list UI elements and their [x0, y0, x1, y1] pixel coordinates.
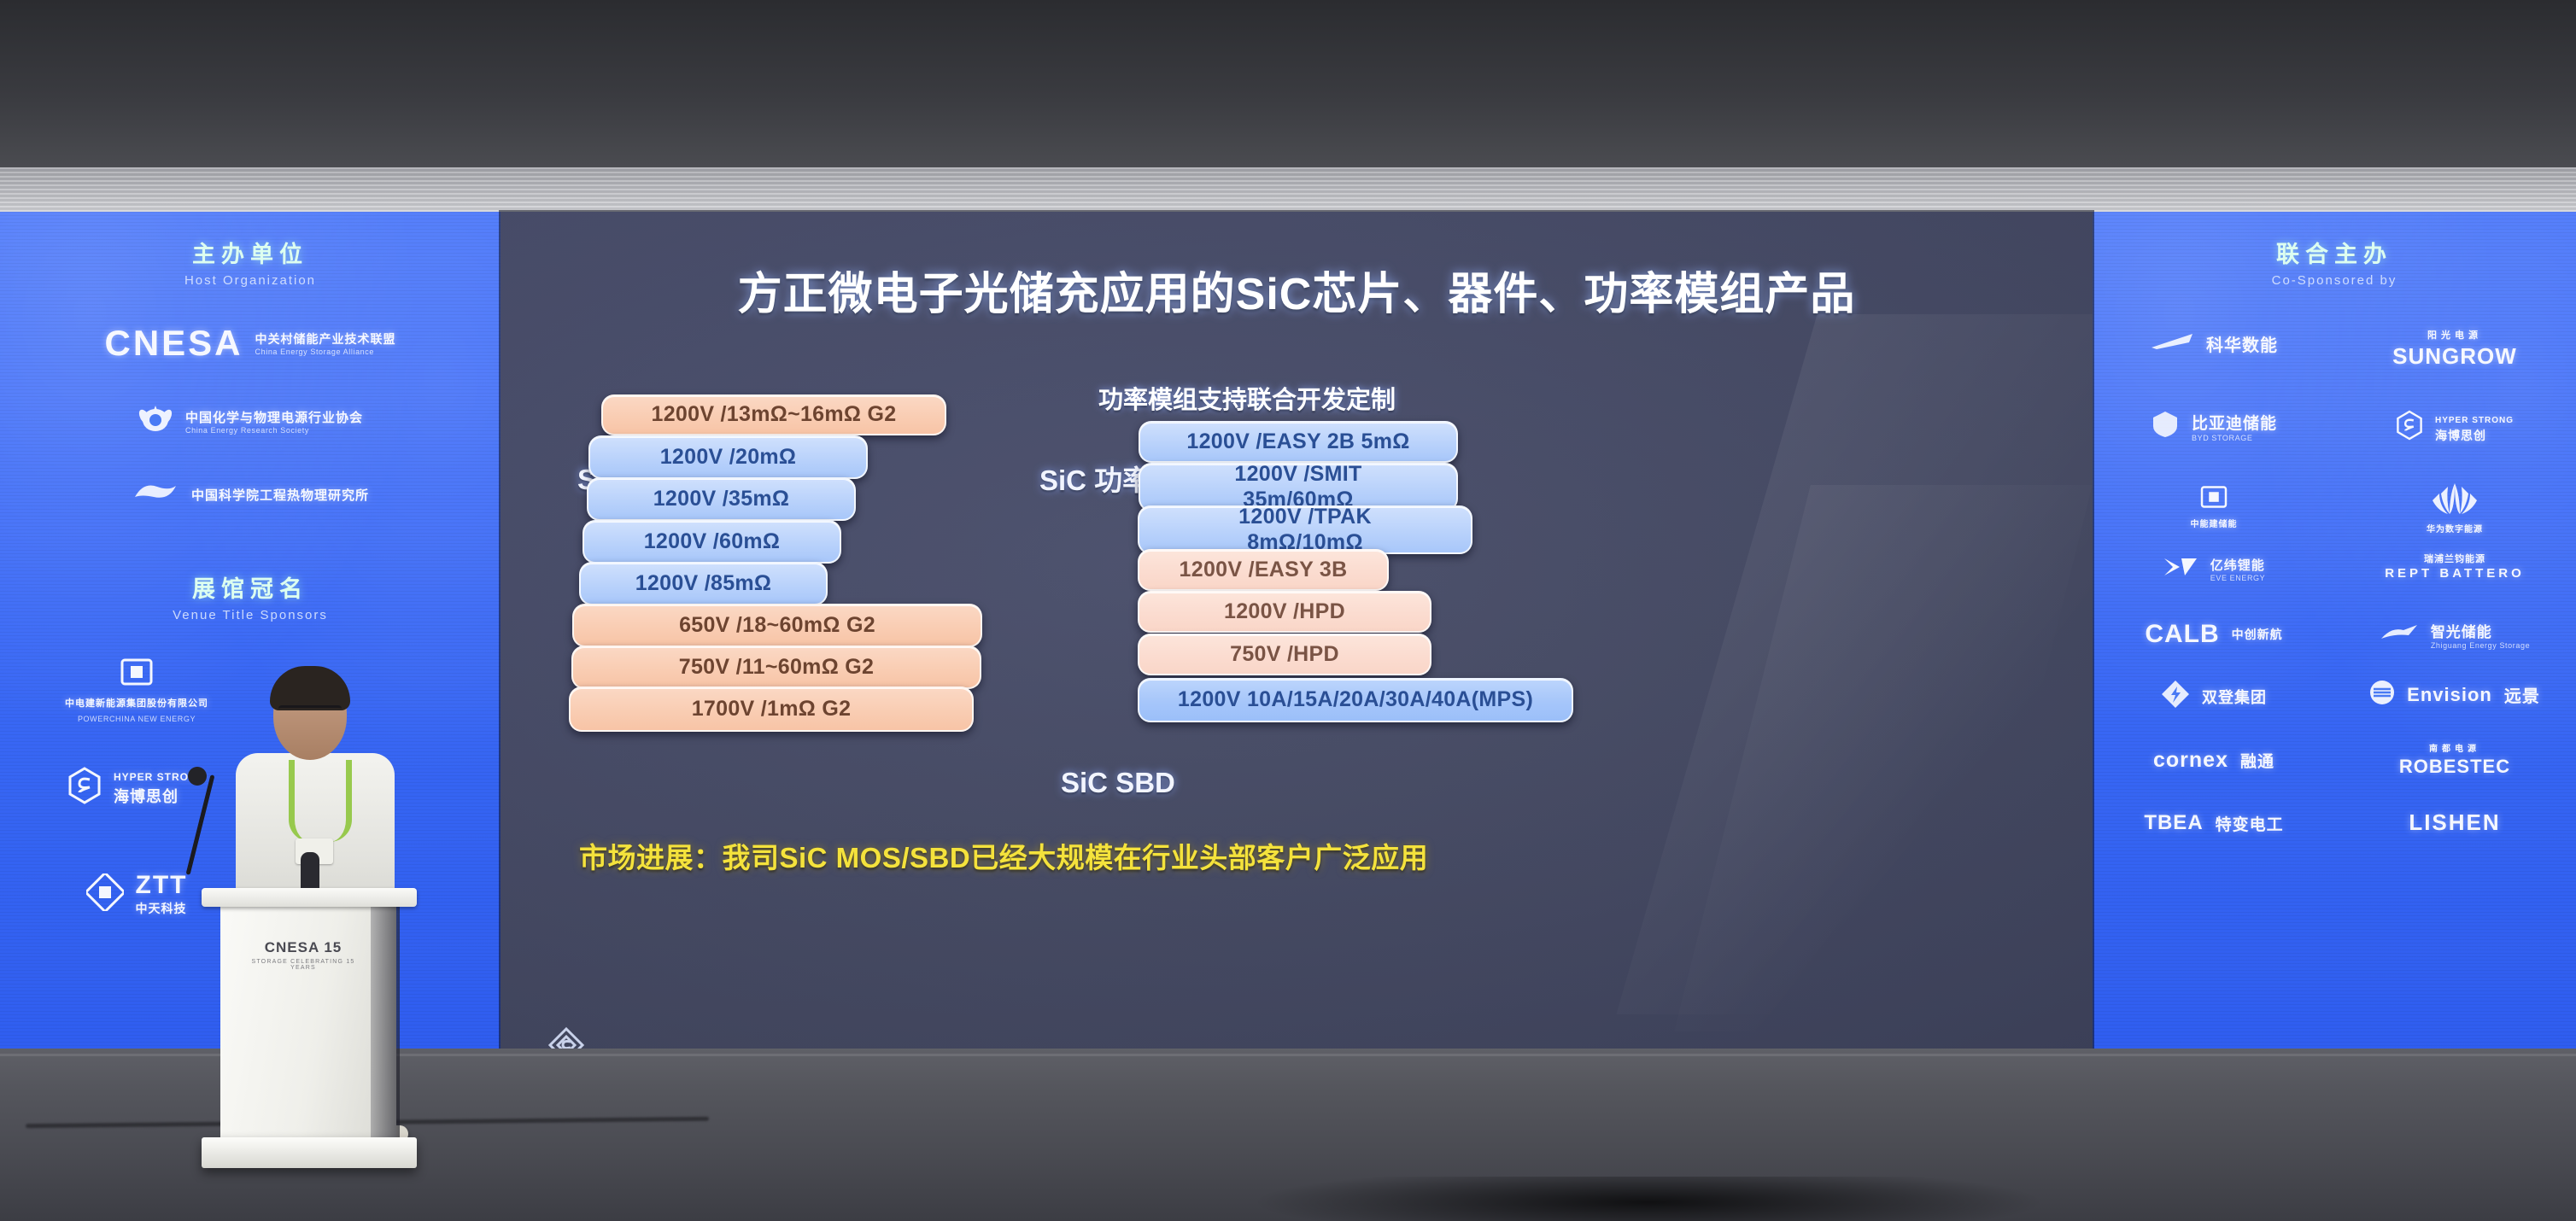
logo-lishen-name: LISHEN: [2409, 809, 2500, 836]
swirl-emblem-icon: [132, 478, 179, 511]
logo-byd-storage: 比亚迪储能 BYD STORAGE: [2096, 410, 2332, 443]
pill-sic-sbd-0: 1200V 10A/15A/20A/30A/40A(MPS): [1138, 678, 1573, 722]
logo-sungrow: 阳光电源 SUNGROW: [2337, 328, 2573, 370]
module-headline: 功率模组支持联合开发定制: [1098, 380, 1396, 416]
podium-logo-main: CNESA 15: [239, 939, 367, 956]
logo-eve-cn: 亿纬锂能: [2210, 558, 2265, 573]
conference-stage-photo: 主办单位 Host Organization CNESA 中关村储能产业技术联盟…: [0, 0, 2576, 1221]
slide-title: 方正微电子光储充应用的SiC芯片、器件、功率模组产品: [501, 258, 2093, 322]
swoosh-icon: [2150, 332, 2194, 355]
logo-eve: 亿纬锂能 EVE ENERGY: [2096, 555, 2332, 583]
logo-sungrow-cn: 阳光电源: [2427, 328, 2482, 342]
logo-cec-storage: 中能建储能: [2096, 485, 2332, 529]
hexagon-s-icon: [67, 767, 102, 809]
square-emblem-icon: [2199, 485, 2228, 513]
logo-powerchina-cn: 中电建新能源集团股份有限公司: [65, 696, 208, 710]
logo-robestec-cn: 南都电源: [2429, 741, 2480, 754]
cosponsor-heading-en: Co-Sponsored by: [2093, 273, 2576, 288]
logo-iet-cas: 中国科学院工程热物理研究所: [0, 478, 501, 511]
pill-sic-module-2: 1200V /TPAK8mΩ/10mΩ: [1138, 505, 1472, 554]
pill-line: 1200V /60mΩ: [644, 529, 781, 555]
logo-calb: CALB 中创新航: [2096, 620, 2332, 649]
podium-top: [202, 888, 417, 907]
pill-sic-mos-0: 1200V /13mΩ~16mΩ G2: [601, 394, 946, 435]
pill-sic-mos-6: 750V /11~60mΩ G2: [571, 646, 981, 689]
logo-lishen: LISHEN: [2337, 809, 2573, 836]
pill-sic-mos-3: 1200V /60mΩ: [583, 520, 841, 564]
logo-cornex-name: cornex: [2153, 748, 2228, 773]
speaker-hair: [270, 666, 350, 710]
pill-line: 650V /18~60mΩ G2: [679, 613, 875, 639]
host-organization-heading: 主办单位 Host Organization: [0, 236, 501, 288]
logo-cornex-cn: 融通: [2240, 749, 2274, 772]
logo-hyper-strong-right-cn: 海博思创: [2435, 427, 2514, 444]
logo-shuangdeng-cn: 双登集团: [2202, 686, 2267, 708]
logo-zhiguang: 智光储能 Zhiguang Energy Storage: [2337, 620, 2573, 650]
logo-robestec-name: ROBESTEC: [2399, 756, 2510, 778]
logo-cnesa-cn: 中关村储能产业技术联盟: [255, 332, 396, 346]
pill-line: 1200V 10A/15A/20A/30A/40A(MPS): [1178, 687, 1533, 713]
podium: CNESA 15 STORAGE CELEBRATING 15 YEARS: [202, 888, 417, 1173]
pill-sic-mos-4: 1200V /85mΩ: [579, 562, 828, 605]
host-heading-en: Host Organization: [0, 273, 501, 288]
logo-byd-cn: 比亚迪储能: [2192, 415, 2277, 433]
logo-cers-en: China Energy Research Society: [185, 426, 363, 435]
pill-sic-mos-1: 1200V /20mΩ: [588, 435, 868, 479]
logo-eve-en: EVE ENERGY: [2210, 574, 2266, 582]
market-progress-note: 市场进展：我司SiC MOS/SBD已经大规模在行业头部客户广泛应用: [579, 835, 1946, 876]
glasses-icon: [278, 705, 342, 721]
logo-cnesa-name: CNESA: [104, 323, 243, 364]
pill-line: 1200V /85mΩ: [635, 571, 772, 597]
pill-sic-mos-5: 650V /18~60mΩ G2: [572, 604, 982, 647]
venue-heading-cn: 展馆冠名: [0, 570, 501, 604]
logo-zhiguang-en: Zhiguang Energy Storage: [2431, 641, 2530, 650]
logo-hyper-strong: HYPER STRONG 海博思创: [9, 767, 265, 809]
y-arrow-icon: [2163, 555, 2198, 583]
pill-sic-module-3: 1200V /EASY 3B: [1138, 549, 1389, 591]
logo-rept-name: REPT BATTERO: [2385, 566, 2525, 581]
podium-logo-sub: STORAGE CELEBRATING 15 YEARS: [239, 959, 367, 971]
logo-robestec: 南都电源 ROBESTEC: [2337, 741, 2573, 778]
pill-line: 1200V /35mΩ: [653, 487, 790, 512]
label-sic-sbd: SiC SBD: [1061, 767, 1175, 799]
presentation-screen: 方正微电子光储充应用的SiC芯片、器件、功率模组产品 SiC MOS SiC 功…: [501, 212, 2093, 1093]
lightning-diamond-icon: [2161, 680, 2190, 713]
venue-sponsor-heading: 展馆冠名 Venue Title Sponsors: [0, 570, 501, 622]
logo-kehua: 科华数能: [2096, 331, 2332, 356]
logo-huawei-cn: 华为数字能源: [2427, 522, 2483, 535]
logo-cnesa: CNESA 中关村储能产业技术联盟 China Energy Storage A…: [0, 323, 501, 364]
logo-iet-cn: 中国科学院工程热物理研究所: [191, 486, 369, 504]
pill-sic-module-4: 1200V /HPD: [1138, 591, 1431, 633]
logo-hyper-strong-right-en: HYPER STRONG: [2435, 416, 2514, 425]
logo-envision-cn: 远景: [2504, 682, 2540, 707]
logo-calb-name: CALB: [2145, 620, 2219, 649]
logo-envision: Envision 远景: [2337, 680, 2573, 710]
venue-heading-en: Venue Title Sponsors: [0, 608, 501, 622]
pill-sic-mos-7: 1700V /1mΩ G2: [569, 686, 974, 732]
logo-tbea-cn: 特变电工: [2216, 812, 2284, 835]
cosponsor-heading: 联合主办 Co-Sponsored by: [2093, 236, 2576, 288]
cosponsor-heading-cn: 联合主办: [2093, 236, 2576, 269]
podium-base: [202, 1137, 417, 1168]
podium-logo: CNESA 15 STORAGE CELEBRATING 15 YEARS: [239, 939, 367, 971]
logo-cnesa-en: China Energy Storage Alliance: [255, 348, 396, 356]
logo-hyper-strong-cn: 海博思创: [114, 785, 206, 807]
pill-sic-module-5: 750V /HPD: [1138, 634, 1431, 675]
pill-sic-mos-2: 1200V /35mΩ: [587, 477, 856, 521]
pill-sic-module-0: 1200V /EASY 2B 5mΩ: [1139, 421, 1458, 463]
host-heading-cn: 主办单位: [0, 236, 501, 269]
logo-kehua-cn: 科华数能: [2206, 331, 2278, 356]
logo-powerchina-en: POWERCHINA NEW ENERGY: [78, 715, 196, 723]
logo-hyper-strong-right: HYPER STRONG 海博思创: [2337, 410, 2573, 445]
logo-powerchina: 中电建新能源集团股份有限公司 POWERCHINA NEW ENERGY: [9, 657, 265, 723]
logo-calb-cn: 中创新航: [2232, 626, 2283, 643]
logo-rept-cn: 瑞浦兰钧能源: [2424, 552, 2485, 565]
square-emblem-icon: [120, 657, 154, 691]
logo-zhiguang-cn: 智光储能: [2431, 624, 2492, 640]
logo-rept-battero: 瑞浦兰钧能源 REPT BATTERO: [2337, 552, 2573, 581]
hexagon-s-icon: [2396, 410, 2423, 445]
diamond-emblem-icon: [86, 873, 124, 915]
logo-shuangdeng: 双登集团: [2096, 680, 2332, 713]
pill-line: 1700V /1mΩ G2: [692, 697, 852, 722]
logo-byd-en: BYD STORAGE: [2192, 434, 2277, 442]
logo-ztt-name: ZTT: [136, 871, 188, 899]
pill-line: 1200V /TPAK: [1238, 505, 1372, 530]
microphone-head-icon: [188, 767, 207, 786]
speaker-lanyard: [289, 760, 352, 842]
logo-huawei: 华为数字能源: [2337, 482, 2573, 535]
pill-line: 1200V /20mΩ: [660, 445, 797, 470]
logo-china-energy-research: 中国化学与物理电源行业协会 China Energy Research Soci…: [0, 401, 501, 441]
wave-arrow-icon: [2380, 622, 2419, 648]
pill-line: 750V /HPD: [1230, 642, 1339, 668]
logo-tbea: TBEA 特变电工: [2096, 811, 2332, 835]
right-sponsor-wall: 联合主办 Co-Sponsored by 科华数能 阳光电源 SUNGROW 比…: [2093, 212, 2576, 1049]
flower-emblem-icon: [138, 401, 173, 441]
logo-cers-cn: 中国化学与物理电源行业协会: [185, 411, 363, 425]
logo-envision-name: Envision: [2407, 684, 2492, 706]
pill-line: 1200V /EASY 2B 5mΩ: [1186, 429, 1409, 455]
logo-cec-cn: 中能建储能: [2191, 517, 2238, 529]
logo-ztt-cn: 中天科技: [136, 900, 188, 917]
envision-circle-icon: [2369, 680, 2395, 710]
pill-line: 1200V /EASY 3B: [1180, 558, 1348, 583]
pill-line: 750V /11~60mΩ G2: [679, 655, 874, 681]
logo-cornex: cornex 融通: [2096, 748, 2332, 773]
pill-line: 1200V /SMIT: [1234, 462, 1361, 488]
pill-line: 1200V /HPD: [1224, 599, 1345, 625]
ceiling-band: [0, 0, 2576, 213]
logo-sungrow-name: SUNGROW: [2392, 343, 2517, 370]
shield-icon: [2151, 410, 2180, 443]
pill-line: 1200V /13mΩ~16mΩ G2: [652, 402, 897, 428]
huawei-petal-icon: [2429, 482, 2480, 520]
logo-tbea-name: TBEA: [2144, 811, 2203, 835]
